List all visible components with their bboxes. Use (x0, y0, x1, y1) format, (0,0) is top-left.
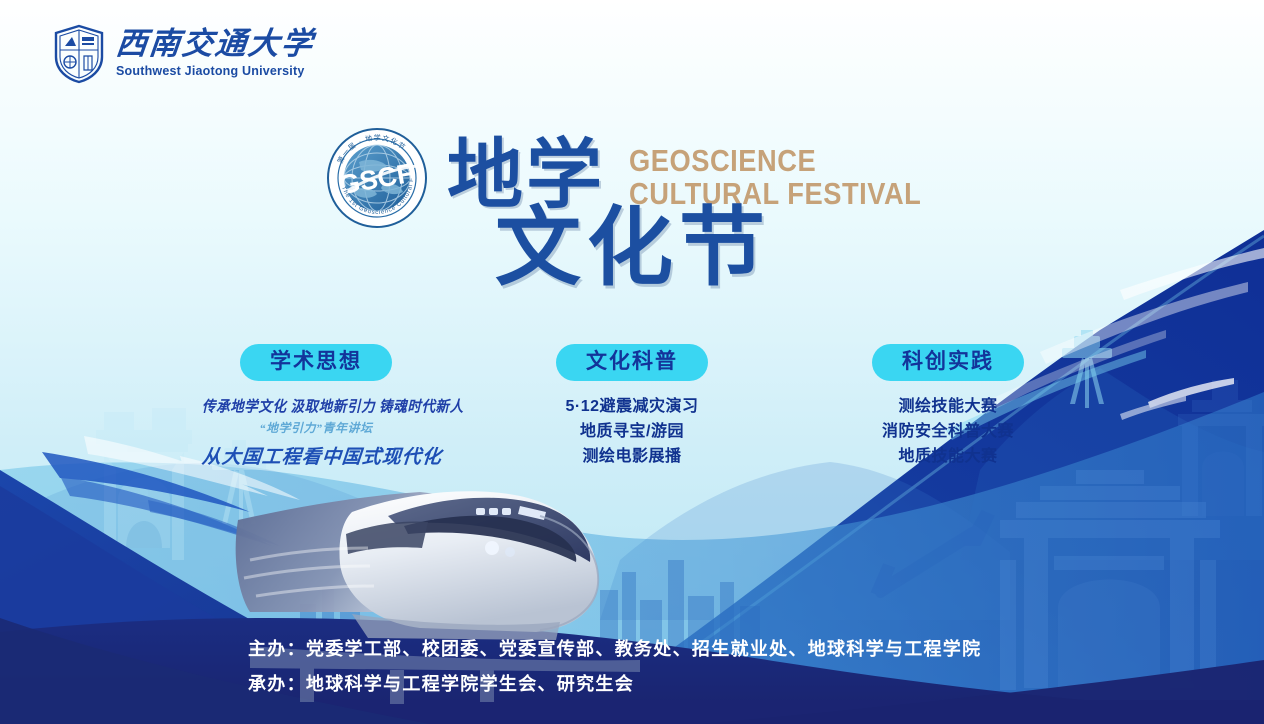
poster-canvas: 西南交通大学 Southwest Jiaotong University (0, 0, 1264, 724)
university-logo: 西南交通大学 Southwest Jiaotong University (52, 24, 314, 84)
column-academic: 学术思想 传承地学文化 汲取地新引力 铸魂时代新人 “地学引力”青年讲坛 从大国… (202, 344, 430, 470)
column-popular-science: 文化科普 5·12避震减灾演习 地质寻宝/游园 测绘电影展播 (518, 344, 746, 470)
title-cn-line2: 文化节 (495, 205, 771, 291)
shield-crest-icon (52, 24, 106, 84)
university-name-en: Southwest Jiaotong University (116, 63, 314, 79)
title-en-line1: GEOSCIENCE (629, 144, 921, 177)
host-line: 主办：党委学工部、校团委、党委宣传部、教务处、招生就业处、地球科学与工程学院 (248, 632, 1264, 667)
list-item: 地质寻宝/游园 (518, 420, 746, 445)
university-name-cn: 西南交通大学 (114, 28, 315, 61)
footer-credits: 主办：党委学工部、校团委、党委宣传部、教务处、招生就业处、地球科学与工程学院 承… (0, 614, 1264, 724)
academic-line-1: 传承地学文化 汲取地新引力 铸魂时代新人 (202, 394, 430, 416)
organizer-line: 承办：地球科学与工程学院学生会、研究生会 (248, 667, 1264, 702)
popular-science-items: 5·12避震减灾演习 地质寻宝/游园 测绘电影展播 (518, 395, 746, 469)
academic-lines: 传承地学文化 汲取地新引力 铸魂时代新人 “地学引力”青年讲坛 从大国工程看中国… (202, 395, 430, 469)
program-columns: 学术思想 传承地学文化 汲取地新引力 铸魂时代新人 “地学引力”青年讲坛 从大国… (0, 344, 1264, 470)
list-item: 消防安全科普大赛 (834, 420, 1062, 445)
list-item: 测绘电影展播 (518, 445, 746, 470)
academic-line-3: 从大国工程看中国式现代化 (201, 442, 431, 469)
academic-line-2: “地学引力”青年讲坛 (202, 419, 430, 436)
pill-academic[interactable]: 学术思想 (240, 344, 392, 381)
pill-popular-science[interactable]: 文化科普 (556, 344, 708, 381)
innovation-items: 测绘技能大赛 消防安全科普大赛 地质技能大赛 (834, 395, 1062, 469)
pill-innovation[interactable]: 科创实践 (872, 344, 1024, 381)
list-item: 地质技能大赛 (834, 445, 1062, 470)
gscf-globe-emblem-icon: GSCF 第一届 · 地学文化节 The 1st Geoscience Cult… (325, 126, 429, 230)
list-item: 5·12避震减灾演习 (518, 395, 746, 420)
list-item: 测绘技能大赛 (834, 395, 1062, 420)
column-innovation: 科创实践 测绘技能大赛 消防安全科普大赛 地质技能大赛 (834, 344, 1062, 470)
